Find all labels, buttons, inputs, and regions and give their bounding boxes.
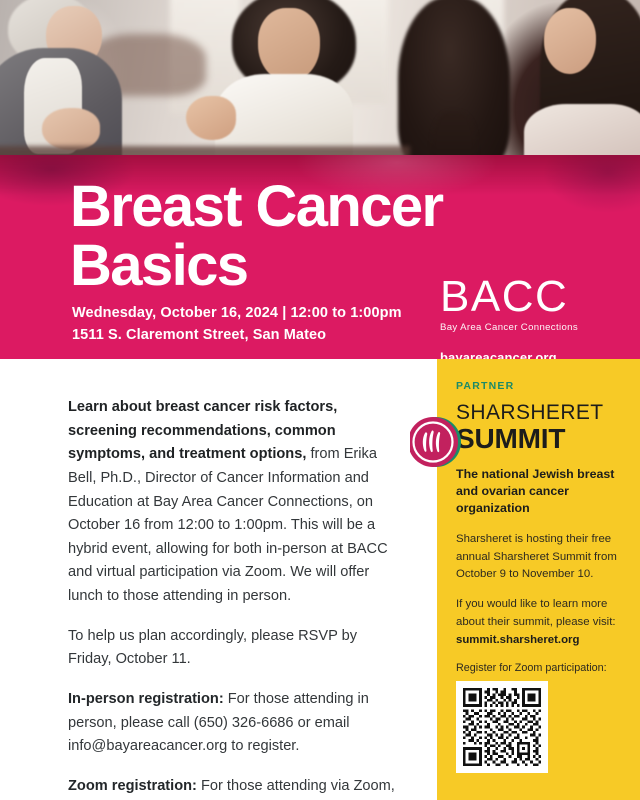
sharsheret-visit-text: If you would like to learn more about th…	[456, 598, 616, 627]
event-details: Wednesday, October 16, 2024 | 12:00 to 1…	[72, 302, 402, 347]
sharsheret-description: Sharsheret is hosting their free annual …	[456, 531, 624, 649]
sharsheret-website[interactable]: summit.sharsheret.org	[456, 632, 624, 649]
event-date: Wednesday, October 16, 2024 | 12:00 to 1…	[72, 302, 402, 324]
sharsheret-summit-wordmark: SHARSHERET SUMMIT	[456, 402, 624, 453]
photo-person-center-hand	[186, 96, 236, 140]
bacc-logo-mark: BACC	[440, 275, 578, 319]
sharsheret-paragraph-2: If you would like to learn more about th…	[456, 596, 624, 649]
page-title: Breast Cancer Basics	[70, 177, 443, 295]
bacc-logo: BACC Bay Area Cancer Connections bayarea…	[440, 275, 578, 359]
photo-person-left-hands	[42, 108, 100, 150]
lead-rest-text: from Erika Bell, Ph.D., Director of Canc…	[68, 446, 388, 604]
event-address: 1511 S. Claremont Street, San Mateo	[72, 324, 402, 346]
bacc-website-url[interactable]: bayareacancer.org	[440, 350, 578, 359]
sharsheret-subtitle: The national Jewish breast and ovarian c…	[456, 466, 624, 517]
sharsheret-logo-icon	[410, 416, 462, 468]
sharsheret-paragraph-1: Sharsheret is hosting their free annual …	[456, 531, 624, 583]
qr-code[interactable]	[456, 681, 548, 773]
partner-label: PARTNER	[456, 380, 624, 392]
summit-brand-line: SUMMIT	[456, 425, 624, 453]
lead-paragraph: Learn about breast cancer risk factors, …	[68, 396, 398, 609]
rsvp-paragraph: To help us plan accordingly, please RSVP…	[68, 625, 398, 672]
sharsheret-brand-line: SHARSHERET	[456, 402, 624, 423]
zoom-registration-paragraph: Zoom registration: For those attending v…	[68, 775, 398, 800]
qr-code-label: Register for Zoom participation:	[456, 661, 628, 676]
photo-person-right-face	[544, 8, 596, 74]
bacc-logo-tagline: Bay Area Cancer Connections	[440, 322, 578, 333]
photo-person-center-face	[258, 8, 320, 82]
zoom-registration-label: Zoom registration:	[68, 778, 197, 794]
flyer-page: Breast Cancer Basics Wednesday, October …	[0, 0, 640, 800]
lead-bold-text: Learn about breast cancer risk factors, …	[68, 399, 337, 462]
partner-panel-content: PARTNER SHARSHERET SUMMIT The national J…	[456, 380, 624, 649]
title-band: Breast Cancer Basics Wednesday, October …	[0, 155, 640, 359]
header-photo	[0, 0, 640, 176]
partner-panel: PARTNER SHARSHERET SUMMIT The national J…	[437, 359, 640, 800]
inperson-registration-label: In-person registration:	[68, 691, 224, 707]
main-content: Learn about breast cancer risk factors, …	[68, 396, 398, 800]
inperson-registration-paragraph: In-person registration: For those attend…	[68, 688, 398, 759]
